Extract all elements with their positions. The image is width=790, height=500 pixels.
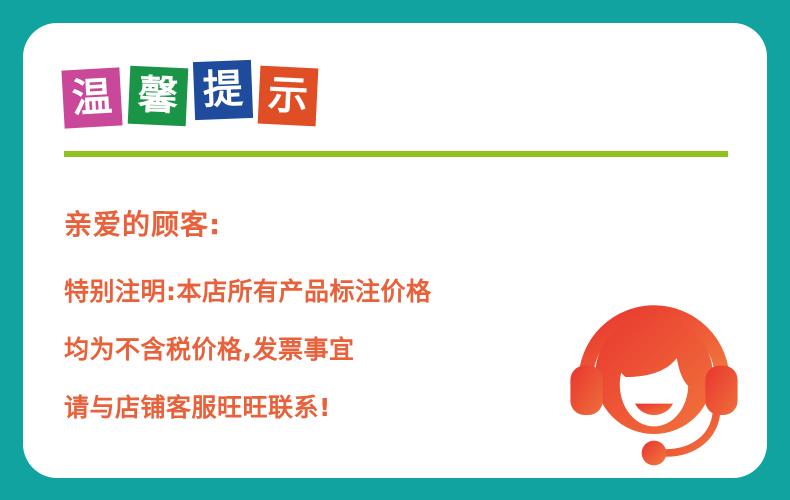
salutation-text: 亲爱的顾客: xyxy=(64,203,221,243)
title-tile-4-char: 示 xyxy=(267,75,309,117)
customer-service-headset-icon xyxy=(559,282,749,472)
body-text-block: 特别注明:本店所有产品标注价格 均为不含税价格,发票事宜 请与店铺客服旺旺联系! xyxy=(64,263,564,437)
title-tile-2-char: 馨 xyxy=(137,75,179,117)
title-tile-3-char: 提 xyxy=(202,69,244,111)
green-divider xyxy=(64,151,728,157)
body-line-1: 特别注明:本店所有产品标注价格 xyxy=(64,263,564,321)
banner-white-card: 温 馨 提 示 亲爱的顾客: 特别注明:本店所有产品标注价格 均为不含税价格,发… xyxy=(23,23,767,478)
title-tile-2: 馨 xyxy=(128,66,189,127)
title-tile-3: 提 xyxy=(193,60,253,120)
body-line-2: 均为不含税价格,发票事宜 xyxy=(64,321,564,379)
body-line-3: 请与店铺客服旺旺联系! xyxy=(64,379,564,437)
title-tiles: 温 馨 提 示 xyxy=(63,53,363,137)
notice-banner: 温 馨 提 示 亲爱的顾客: 特别注明:本店所有产品标注价格 均为不含税价格,发… xyxy=(0,0,790,500)
title-tile-4: 示 xyxy=(258,66,319,127)
title-tile-1: 温 xyxy=(61,67,122,128)
title-tile-1-char: 温 xyxy=(71,77,113,119)
